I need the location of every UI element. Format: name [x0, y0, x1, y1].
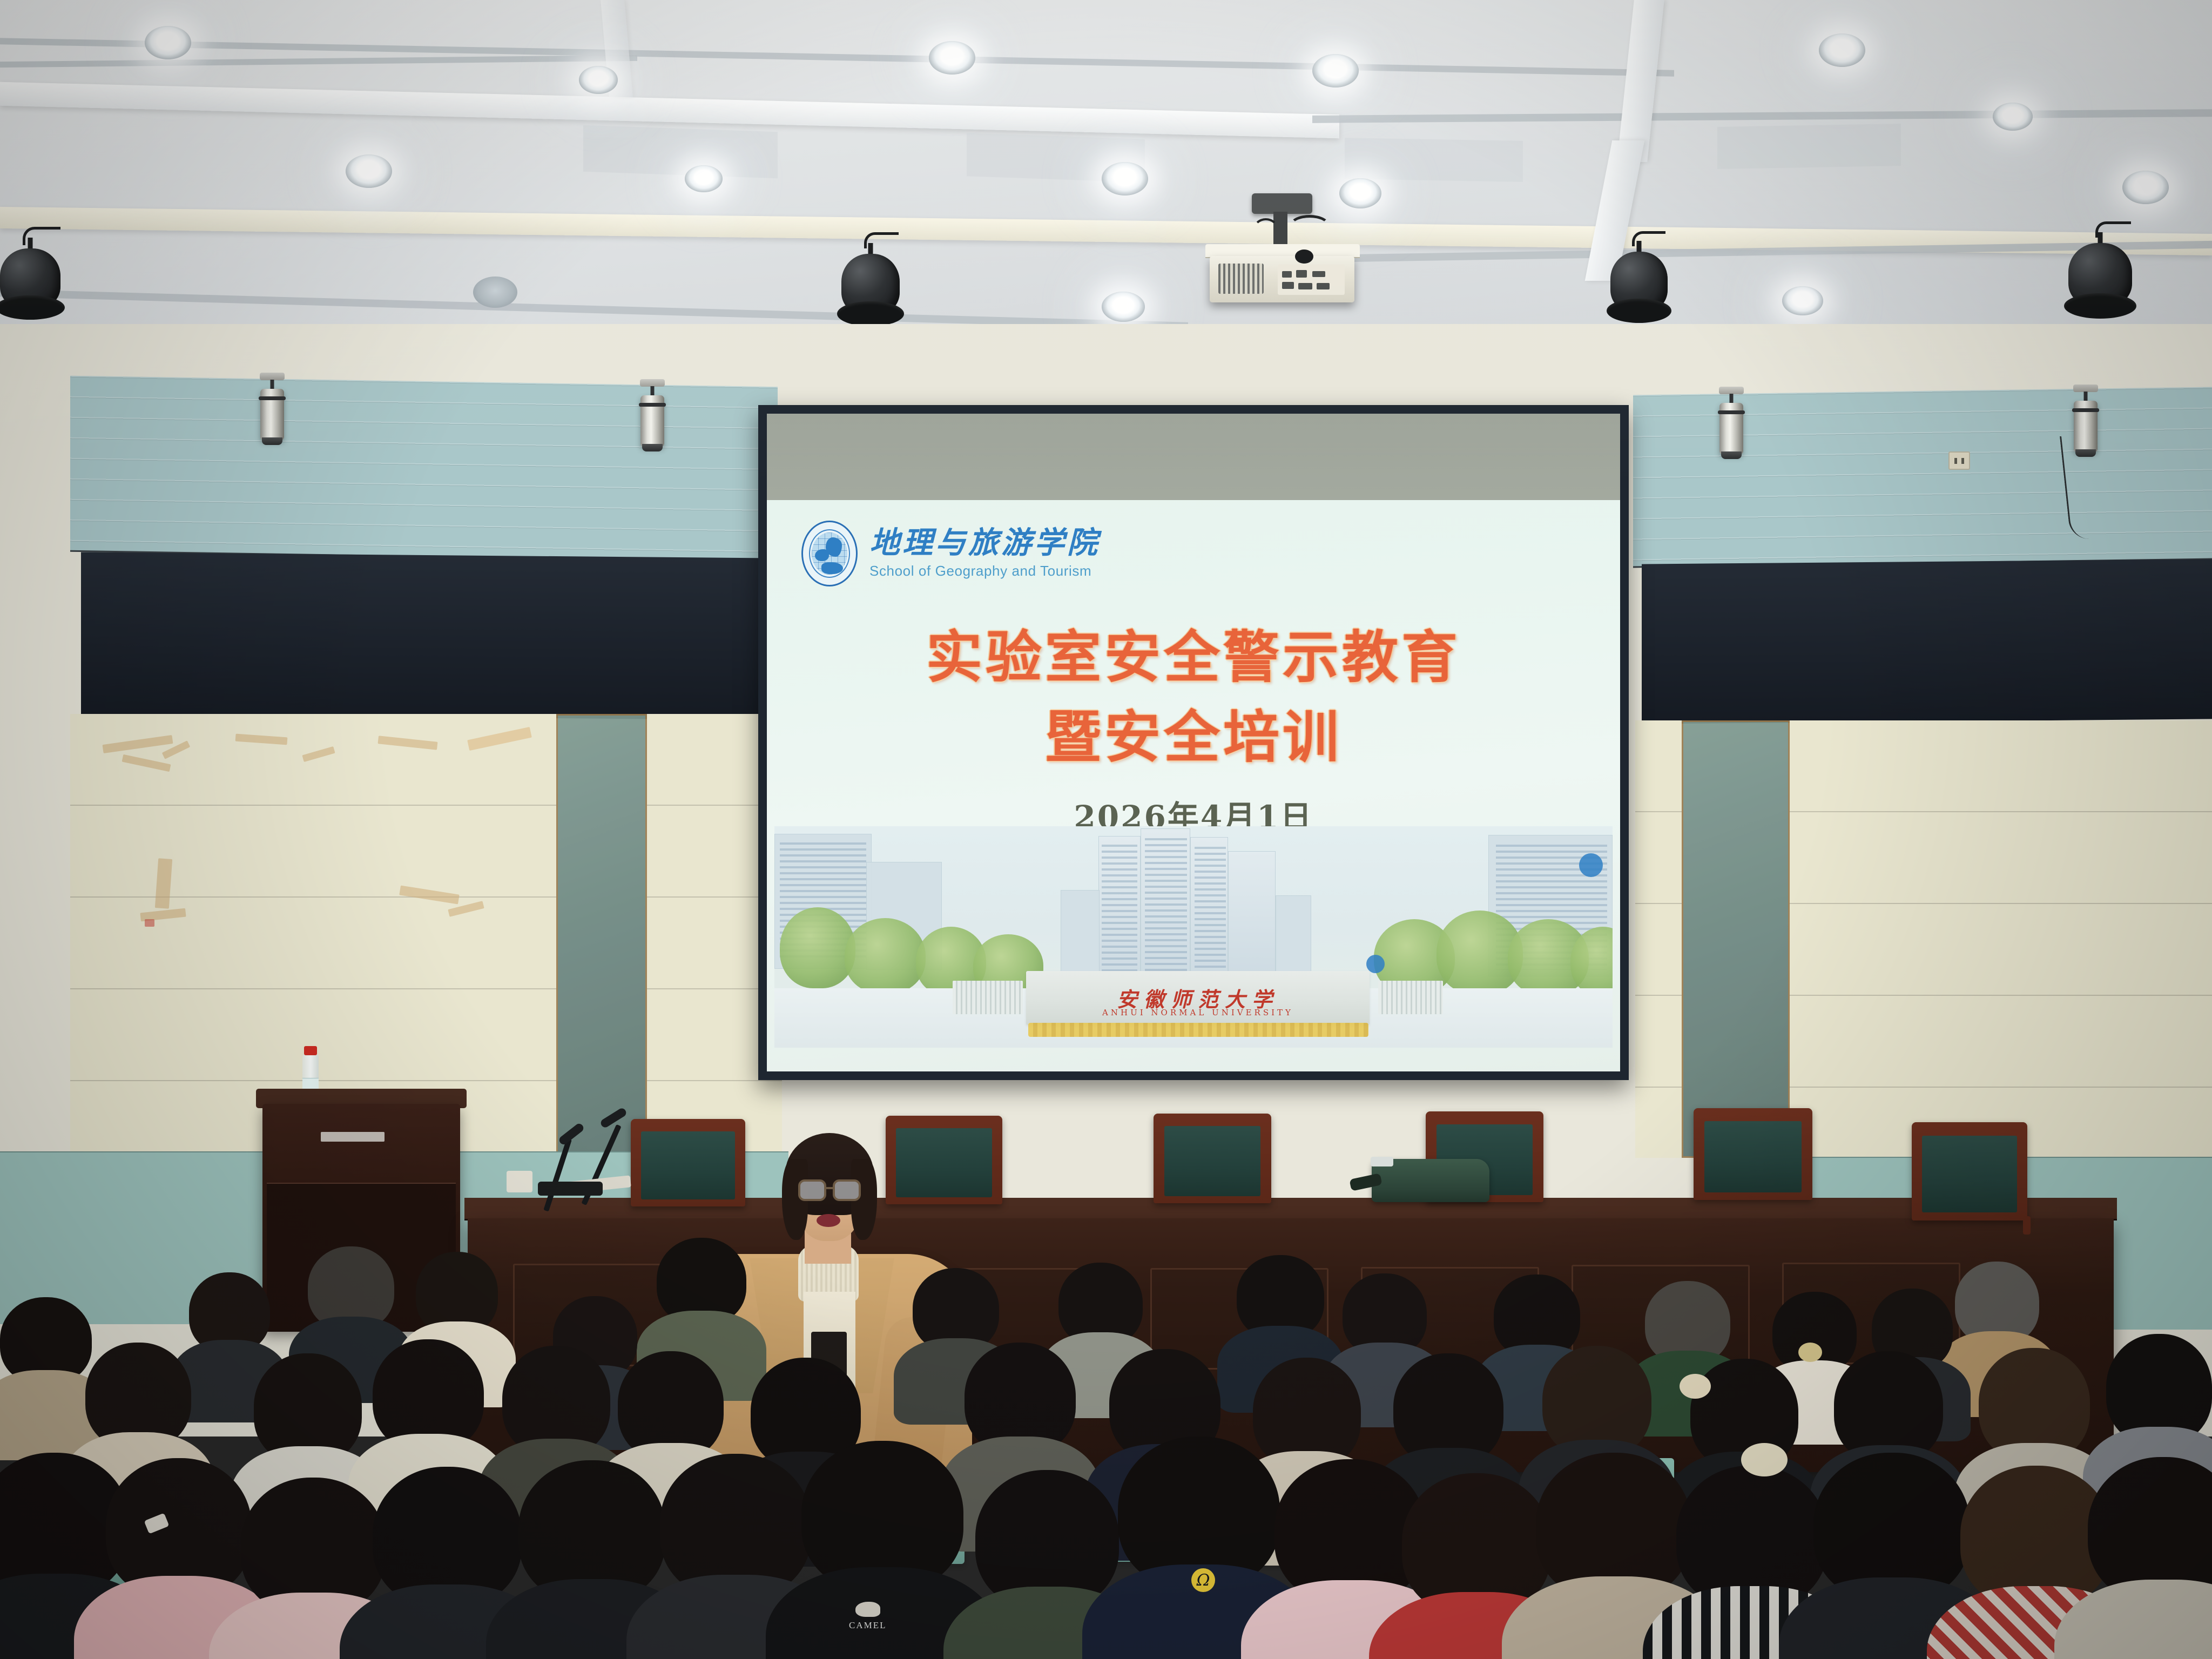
projector-port: [1282, 271, 1292, 278]
stage-chair[interactable]: [1154, 1114, 1271, 1203]
campus-fence: [1378, 981, 1443, 1014]
projector-port-panel: [1278, 265, 1345, 295]
ceiling-downlight: [473, 276, 517, 308]
wall-dark-band-right: [1642, 559, 2212, 724]
ceiling-recess-panel: [1717, 124, 1901, 169]
hair-scrunchie: [1741, 1443, 1788, 1476]
ceiling-downlight: [145, 26, 191, 59]
projector-ceiling-plate: [1252, 193, 1312, 214]
eyeglasses-icon: [798, 1179, 826, 1201]
bottle-label: [302, 1078, 319, 1090]
campus-gate-english: ANHUI NORMAL UNIVERSITY: [1026, 1008, 1370, 1017]
ceiling-recess-panel: [1345, 138, 1523, 182]
stage-spotlight-wire: [2095, 221, 2131, 238]
projector-lens-cable-knot: [1295, 249, 1313, 264]
campus-flowerbed: [1028, 1023, 1368, 1037]
wall-slat-band-left: [70, 376, 778, 563]
ceiling-downlight: [1819, 33, 1865, 67]
lecture-hall-photo: 地理与旅游学院 School of Geography and Tourism …: [0, 0, 2212, 1659]
projector-vent-grille: [1218, 264, 1264, 294]
presentation-slide: 地理与旅游学院 School of Geography and Tourism …: [767, 500, 1620, 1071]
projector-cable: [1289, 215, 1331, 246]
presenter-mouth: [817, 1214, 840, 1227]
slide-title-line1: 实验室安全警示教育: [767, 619, 1620, 697]
projector-port: [1296, 270, 1307, 278]
projector-port: [1282, 282, 1294, 289]
campus-sign-icon: [1366, 955, 1385, 973]
campus-tree: [780, 907, 855, 988]
wall-glass-panel-right: [1682, 720, 1790, 1158]
brand-label-camel: CAMEL: [849, 1620, 887, 1631]
podium-nameplate-slot: [321, 1132, 385, 1142]
campus-photo: 安徽师范大学 ANHUI NORMAL UNIVERSITY: [774, 826, 1613, 1048]
projector-port: [1298, 283, 1312, 289]
bottle-cap: [304, 1046, 317, 1055]
stage-spotlight-wire: [1632, 231, 1665, 246]
projector-port: [1312, 271, 1325, 277]
stage-spotlight-wire: [864, 232, 899, 248]
ceiling-downlight: [1102, 162, 1148, 195]
ceiling-downlight: [346, 154, 392, 188]
stage-spotlight: [1610, 241, 1668, 322]
campus-fence: [953, 981, 1023, 1014]
wall-power-outlet[interactable]: [1948, 451, 1970, 470]
track-spotlight: [2072, 385, 2100, 460]
projector-port: [1317, 283, 1330, 289]
campus-tree: [845, 918, 926, 994]
ceiling-downlight: [1312, 54, 1359, 87]
wall-cream-panel-right0: [1635, 720, 1682, 1158]
ceiling-downlight: [1339, 178, 1381, 208]
camel-logo-icon: [855, 1602, 880, 1617]
microphone-base: [507, 1171, 532, 1192]
hair-scrunchie: [1680, 1374, 1711, 1399]
stage-chair[interactable]: [1694, 1108, 1812, 1200]
track-spotlight: [1717, 387, 1745, 462]
stage-spotlight: [0, 238, 60, 319]
eyeglasses-bridge: [825, 1187, 835, 1189]
hair-scrunchie: [1798, 1343, 1822, 1362]
ceiling-downlight: [1782, 286, 1823, 315]
lululemon-logo-icon: Ω: [1191, 1568, 1215, 1592]
projector-cable: [1253, 218, 1279, 242]
campus-gate-monument: 安徽师范大学 ANHUI NORMAL UNIVERSITY: [1026, 971, 1370, 1025]
bag-tag: [1371, 1157, 1393, 1166]
school-seal-icon: [801, 521, 858, 586]
school-name-english: School of Geography and Tourism: [869, 563, 1100, 579]
wall-cream-panel-right: [1790, 720, 2212, 1158]
track-spotlight: [638, 379, 666, 455]
campus-building-windows: [1145, 838, 1187, 986]
ceiling-downlight: [2122, 171, 2169, 204]
projection-screen: 地理与旅游学院 School of Geography and Tourism …: [758, 405, 1629, 1080]
audience-member: [2088, 1457, 2212, 1659]
screen-surface: 地理与旅游学院 School of Geography and Tourism …: [767, 414, 1620, 1071]
audience-member: [0, 1297, 92, 1438]
ceiling-downlight: [1993, 103, 2033, 131]
ceiling-downlight: [1102, 292, 1145, 322]
school-name-chinese: 地理与旅游学院: [869, 528, 1100, 558]
slide-title-line2: 暨安全培训: [767, 699, 1620, 777]
table-device: [538, 1182, 603, 1196]
ceiling-downlight: [579, 66, 618, 94]
ceiling-recess-panel: [583, 125, 778, 179]
school-logo-lockup: 地理与旅游学院 School of Geography and Tourism: [801, 521, 1100, 586]
wall-glass-panel-left: [556, 714, 647, 1157]
stage-chair[interactable]: [1912, 1122, 2027, 1220]
ceiling-downlight: [685, 165, 723, 192]
campus-building-windows: [1195, 847, 1226, 985]
stage-spotlight: [2068, 232, 2132, 318]
campus-building-windows: [1102, 845, 1137, 985]
eyeglasses-icon: [833, 1179, 861, 1201]
stage-spotlight-wire: [23, 227, 60, 245]
campus-sign-icon: [1579, 853, 1603, 877]
track-spotlight: [258, 373, 286, 448]
ceiling-downlight: [929, 41, 975, 75]
wall-dark-band-left: [81, 552, 777, 720]
tape-residue: [145, 919, 154, 927]
stage-spotlight: [841, 243, 900, 325]
